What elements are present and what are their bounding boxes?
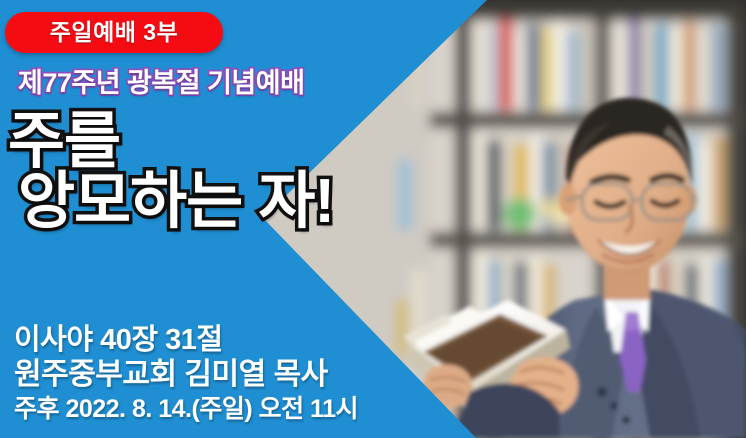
bible-verse-reference: 이사야 40장 31절	[14, 323, 358, 357]
service-badge-label: 주일예배 3부	[50, 21, 178, 44]
sermon-thumbnail: 주일예배 3부 제77주년 광복절 기념예배 주를 앙모하는 자! 이사야 40…	[0, 0, 746, 438]
sermon-details: 이사야 40장 31절 원주중부교회 김미열 목사 주후 2022. 8. 14…	[14, 323, 358, 424]
service-badge: 주일예배 3부	[5, 12, 223, 53]
headline-line-1: 주를	[8, 112, 428, 172]
sermon-headline: 주를 앙모하는 자!	[8, 112, 428, 231]
headline-line-2: 앙모하는 자!	[8, 172, 428, 232]
church-and-speaker: 원주중부교회 김미열 목사	[14, 357, 358, 392]
poster-text-layer: 주일예배 3부 제77주년 광복절 기념예배 주를 앙모하는 자! 이사야 40…	[0, 0, 746, 438]
commemoration-subtitle: 제77주년 광복절 기념예배	[18, 70, 304, 97]
service-datetime: 주후 2022. 8. 14.(주일) 오전 11시	[14, 395, 358, 425]
